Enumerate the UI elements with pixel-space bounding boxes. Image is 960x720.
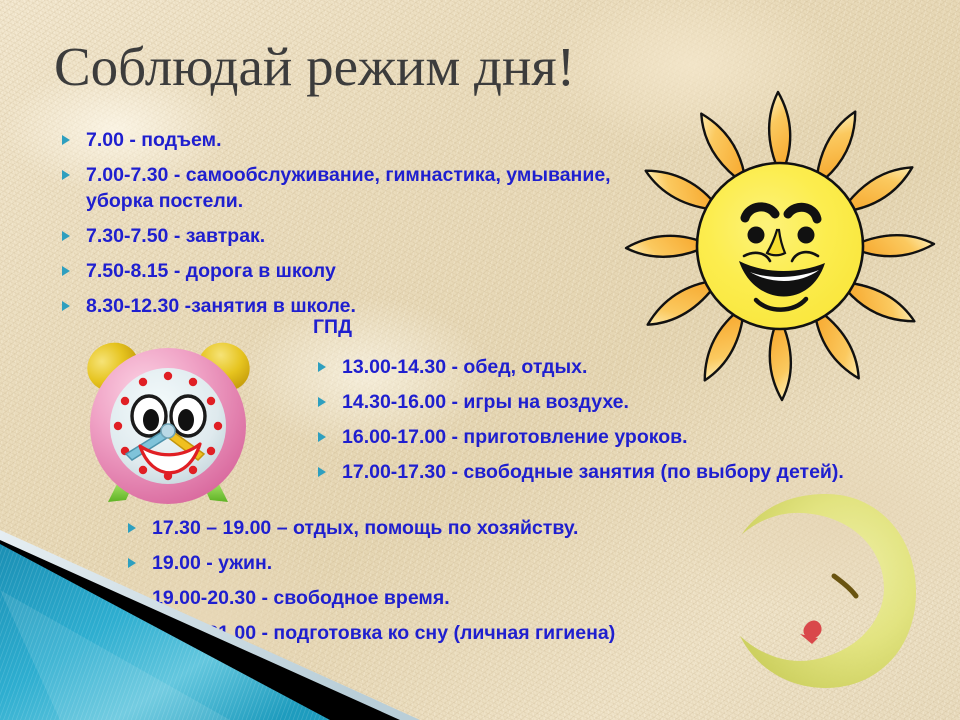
- bullet-triangle-icon: [62, 135, 70, 145]
- bullet-triangle-icon: [62, 301, 70, 311]
- schedule-entry: 7.30-7.50 - завтрак.: [86, 225, 265, 247]
- list-item: 14.30-16.00 - игры на воздухе.: [316, 390, 896, 416]
- list-item: 17.00-17.30 - свободные занятия (по выбо…: [316, 460, 896, 486]
- list-item: 7.30-7.50 - завтрак.: [60, 224, 635, 250]
- morning-schedule-list: 7.00 - подъем. 7.00-7.30 - самообслужива…: [60, 128, 635, 329]
- corner-banner-decoration: [0, 530, 520, 720]
- schedule-entry: 7.50-8.15 - дорога в школу: [86, 260, 336, 282]
- bullet-triangle-icon: [318, 362, 326, 372]
- bullet-triangle-icon: [62, 170, 70, 180]
- schedule-entry: 8.30-12.30 -занятия в школе.: [86, 295, 356, 317]
- bullet-triangle-icon: [318, 397, 326, 407]
- schedule-entry: 13.00-14.30 - обед, отдых.: [342, 356, 587, 378]
- list-item: 16.00-17.00 - приготовление уроков.: [316, 425, 896, 451]
- schedule-entry: 7.00 - подъем.: [86, 129, 221, 151]
- schedule-entry: 16.00-17.00 - приготовление уроков.: [342, 426, 688, 448]
- schedule-entry: 17.00-17.30 - свободные занятия (по выбо…: [342, 461, 844, 483]
- page-title: Соблюдай режим дня!: [54, 38, 694, 96]
- gpd-label: ГПД: [313, 316, 352, 339]
- bullet-triangle-icon: [62, 231, 70, 241]
- list-item: 7.00 - подъем.: [60, 128, 635, 154]
- list-item: 7.50-8.15 - дорога в школу: [60, 259, 635, 285]
- bullet-triangle-icon: [318, 467, 326, 477]
- schedule-entry: 7.00-7.30 - самообслуживание, гимнастика…: [86, 164, 611, 212]
- bullet-triangle-icon: [62, 266, 70, 276]
- list-item: 13.00-14.30 - обед, отдых.: [316, 355, 896, 381]
- list-item: 7.00-7.30 - самообслуживание, гимнастика…: [60, 163, 635, 215]
- pink-alarm-clock-illustration: [78, 332, 258, 514]
- schedule-entry: 14.30-16.00 - игры на воздухе.: [342, 391, 629, 413]
- slide-canvas: Соблюдай режим дня! 7.00 - подъем. 7.00-…: [0, 0, 960, 720]
- gpd-schedule-list: 13.00-14.30 - обед, отдых. 14.30-16.00 -…: [316, 355, 896, 495]
- bullet-triangle-icon: [318, 432, 326, 442]
